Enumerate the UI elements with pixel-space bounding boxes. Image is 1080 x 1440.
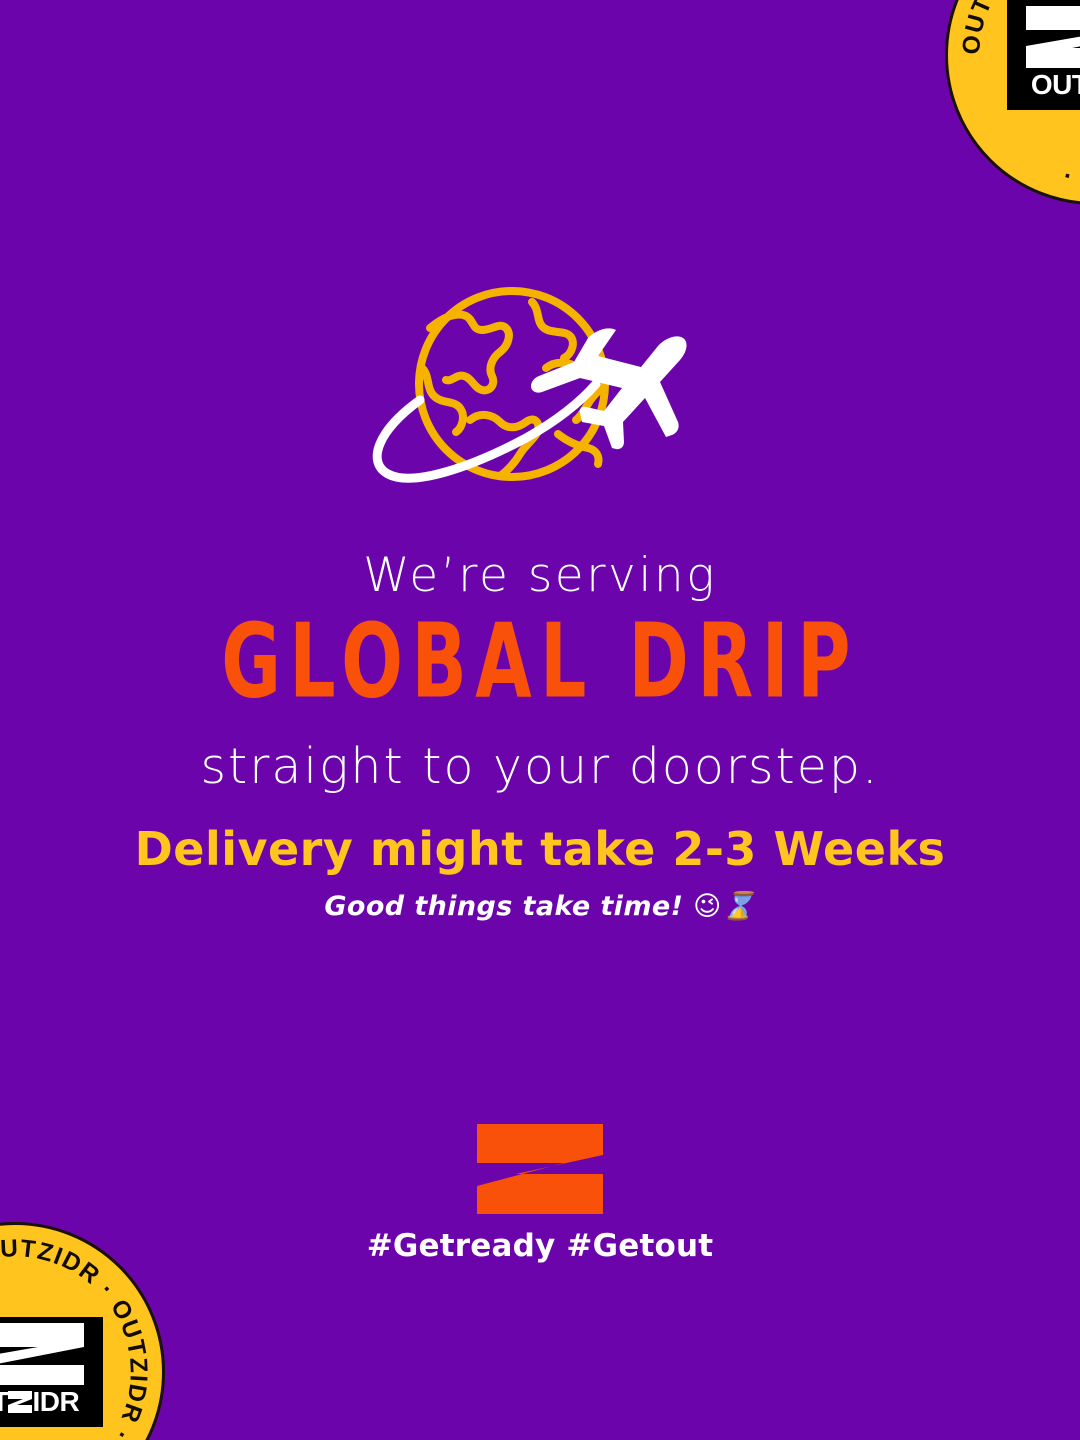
outzidr-z-logo-icon bbox=[1020, 4, 1080, 70]
headline-line-doorstep: straight to your doorstep. bbox=[0, 738, 1080, 797]
footer-hashtags-text: #Getready #Getout bbox=[0, 1228, 1080, 1264]
outzidr-z-logo-icon bbox=[0, 1321, 90, 1387]
delivery-timeframe-text: Delivery might take 2-3 Weeks bbox=[0, 822, 1080, 877]
headline-block: We’re serving GLOBAL DRIP straight to yo… bbox=[0, 548, 1080, 796]
badge-wordmark-part-1: OUT bbox=[1031, 69, 1080, 101]
outzidr-badge-top-right: OUTZIDR · OUTZIDR · OUTZIDR · OUTZIDR · … bbox=[945, 0, 1080, 205]
badge-wordmark-bottom-left: OUT IDR bbox=[0, 1384, 79, 1420]
headline-line-serving: We’re serving bbox=[0, 548, 1080, 603]
headline-line-global-drip: GLOBAL DRIP bbox=[38, 602, 1042, 720]
outzidr-z-logo-icon bbox=[477, 1124, 603, 1214]
badge-core-bottom-left: OUT IDR bbox=[0, 1317, 103, 1427]
footer-branding: #Getready #Getout bbox=[0, 1124, 1080, 1264]
badge-wordmark-part-2: IDR bbox=[32, 1386, 79, 1418]
delivery-info-block: Delivery might take 2-3 Weeks Good thing… bbox=[0, 822, 1080, 922]
badge-core-top-right: OUT IDR bbox=[1007, 0, 1080, 110]
badge-wordmark-top-right: OUT IDR bbox=[1031, 67, 1080, 103]
poster-canvas: OUTZIDR · OUTZIDR · OUTZIDR · OUTZIDR · … bbox=[0, 0, 1080, 1440]
delivery-note-text: Good things take time! 😉⌛ bbox=[0, 890, 1080, 922]
globe-airplane-icon bbox=[360, 272, 710, 512]
outzidr-z-glyph-icon bbox=[7, 1390, 33, 1414]
